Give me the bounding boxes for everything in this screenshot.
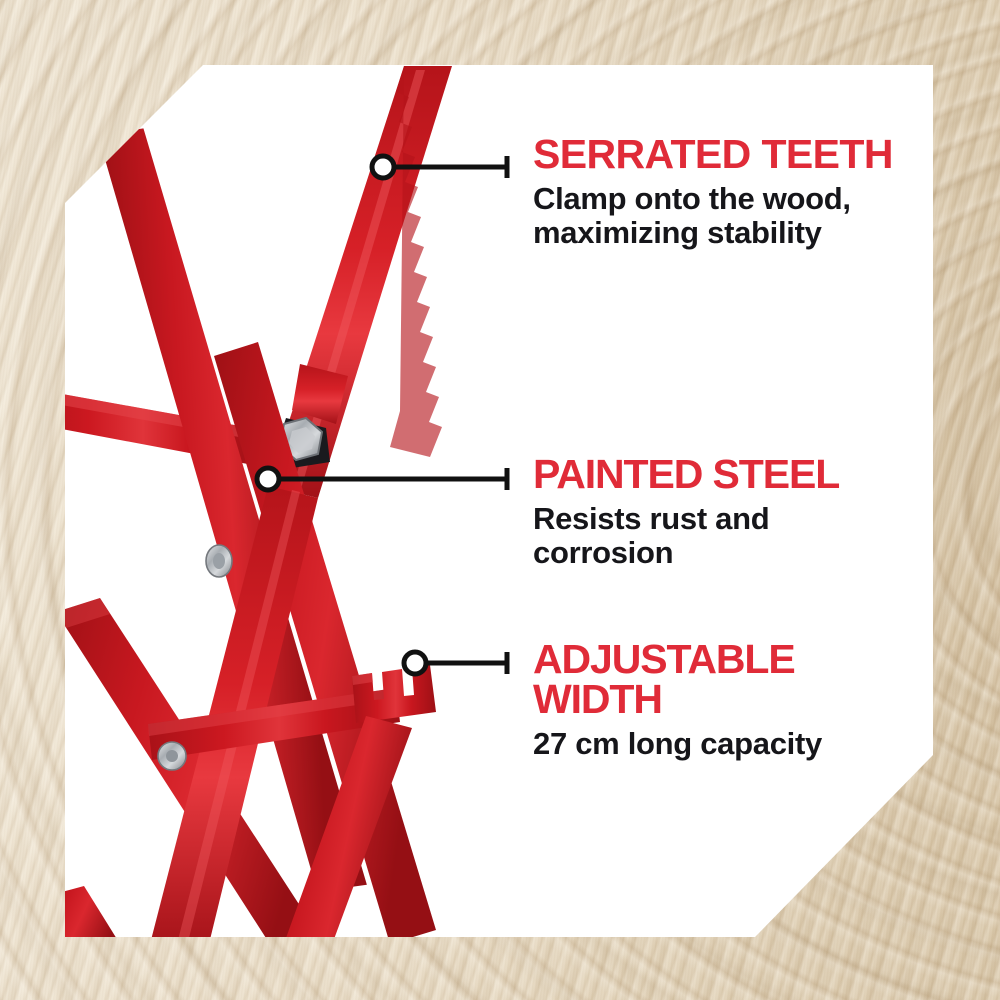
callout-body: Resists rust and corrosion [533,502,913,571]
callout-body: Clamp onto the wood, maximizing stabilit… [533,182,913,251]
callout-heading: ADJUSTABLE WIDTH [533,640,913,720]
callout-heading: PAINTED STEEL [533,455,913,495]
callout-adjustable-width: ADJUSTABLE WIDTH 27 cm long capacity [533,640,913,761]
rivet-upper [206,545,232,577]
lower-left-foot [40,886,120,956]
callout-heading: SERRATED TEETH [533,135,913,175]
infographic-canvas: SERRATED TEETH Clamp onto the wood, maxi… [0,0,1000,1000]
notched-width-rack [352,665,436,723]
callout-serrated-teeth: SERRATED TEETH Clamp onto the wood, maxi… [533,135,913,251]
callout-body: 27 cm long capacity [533,727,913,762]
rivet-lower [158,742,186,770]
callout-painted-steel: PAINTED STEEL Resists rust and corrosion [533,455,913,571]
